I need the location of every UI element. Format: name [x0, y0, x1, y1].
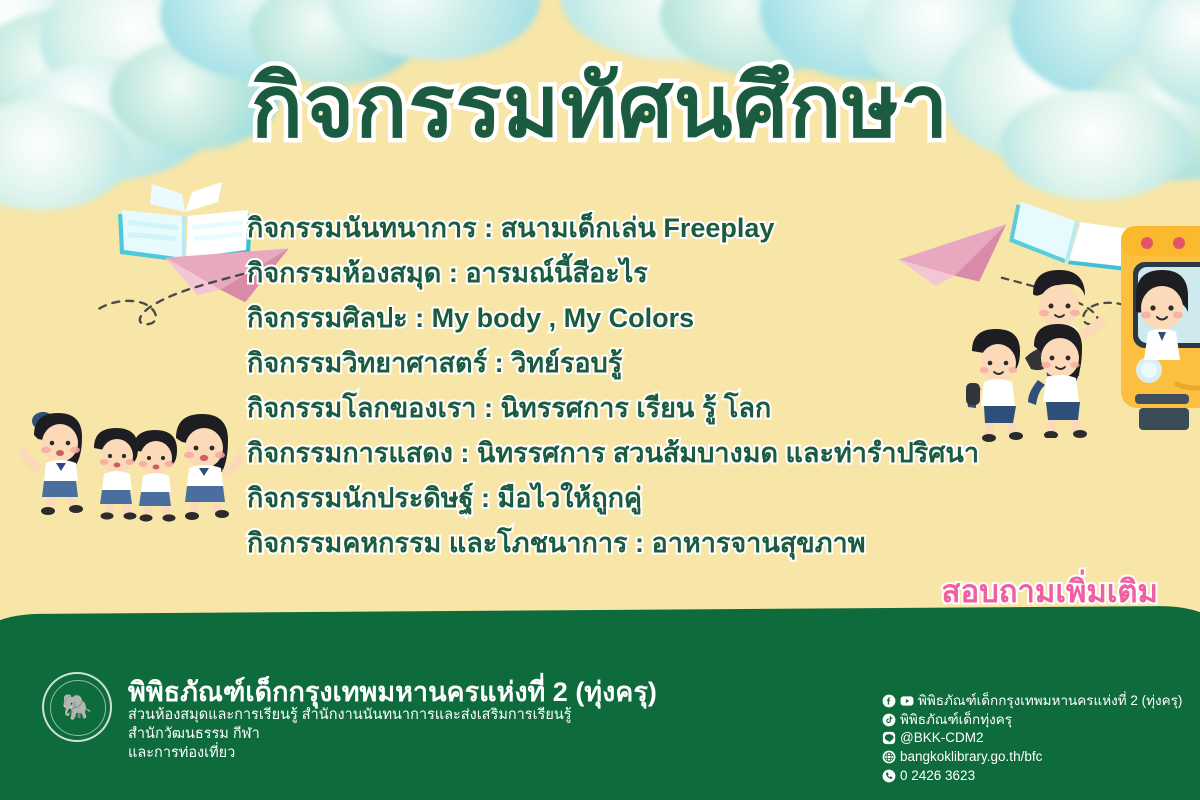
social-label: พิพิธภัณฑ์เด็กกรุงเทพมหานครแห่งที่ 2 (ทุ…	[918, 694, 1182, 708]
list-item: กิจกรรมนันทนาการ : สนามเด็กเล่น Freeplay	[247, 206, 1147, 251]
youtube-icon[interactable]	[900, 694, 914, 708]
bma-seal-icon: 🐘	[42, 672, 112, 742]
social-label: bangkoklibrary.go.th/bfc	[900, 750, 1042, 764]
globe-icon[interactable]	[882, 750, 896, 764]
tiktok-icon[interactable]	[882, 713, 896, 727]
social-label: พิพิธภัณฑ์เด็กทุ่งครุ	[900, 713, 1012, 727]
org-subtitle: ส่วนห้องสมุดและการเรียนรู้ สำนักงานนันทน…	[128, 706, 572, 763]
org-subtitle-line-2: สำนักวัฒนธรรม กีฬา	[128, 725, 572, 744]
list-item: กิจกรรมวิทยาศาสตร์ : วิทย์รอบรู้	[247, 341, 1147, 386]
social-row-phone[interactable]: 0 2426 3623	[882, 766, 1182, 785]
page-title: กิจกรรมทัศนศึกษา	[0, 58, 1200, 157]
org-subtitle-line-1: ส่วนห้องสมุดและการเรียนรู้ สำนักงานนันทน…	[128, 706, 572, 725]
list-item: กิจกรรมการแสดง : นิทรรศการ สวนส้มบางมด แ…	[247, 431, 1147, 476]
elephant-glyph: 🐘	[61, 696, 92, 721]
social-label: @BKK-CDM2	[900, 731, 983, 745]
social-label: 0 2426 3623	[900, 769, 975, 783]
line-icon[interactable]	[882, 731, 896, 745]
org-subtitle-line-3: และการท่องเที่ยว	[128, 744, 572, 763]
phone-icon[interactable]	[882, 769, 896, 783]
list-item: กิจกรรมโลกของเรา : นิทรรศการ เรียน รู้ โ…	[247, 386, 1147, 431]
social-row-line[interactable]: @BKK-CDM2	[882, 729, 1182, 748]
social-row-tiktok[interactable]: พิพิธภัณฑ์เด็กทุ่งครุ	[882, 711, 1182, 730]
dashed-trail-icon	[95, 270, 245, 330]
facebook-icon[interactable]	[882, 694, 896, 708]
list-item: กิจกรรมห้องสมุด : อารมณ์นี้สีอะไร	[247, 251, 1147, 296]
list-item: กิจกรรมนักประดิษฐ์ : มือไวให้ถูกคู่	[247, 476, 1147, 521]
list-item: กิจกรรมคหกรรม และโภชนาการ : อาหารจานสุขภ…	[247, 521, 1147, 566]
poster-canvas: กิจกรรมทัศนศึกษา กิจกรรมนันทนาการ : สนาม…	[0, 0, 1200, 800]
activity-list: กิจกรรมนันทนาการ : สนามเด็กเล่น Freeplay…	[247, 206, 1147, 566]
list-item: กิจกรรมศิลปะ : My body , My Colors	[247, 296, 1147, 341]
social-row-website[interactable]: bangkoklibrary.go.th/bfc	[882, 748, 1182, 767]
social-row-facebook-youtube[interactable]: พิพิธภัณฑ์เด็กกรุงเทพมหานครแห่งที่ 2 (ทุ…	[882, 692, 1182, 711]
jumping-students-illustration	[162, 408, 252, 523]
social-contact-list: พิพิธภัณฑ์เด็กกรุงเทพมหานครแห่งที่ 2 (ทุ…	[882, 692, 1182, 785]
